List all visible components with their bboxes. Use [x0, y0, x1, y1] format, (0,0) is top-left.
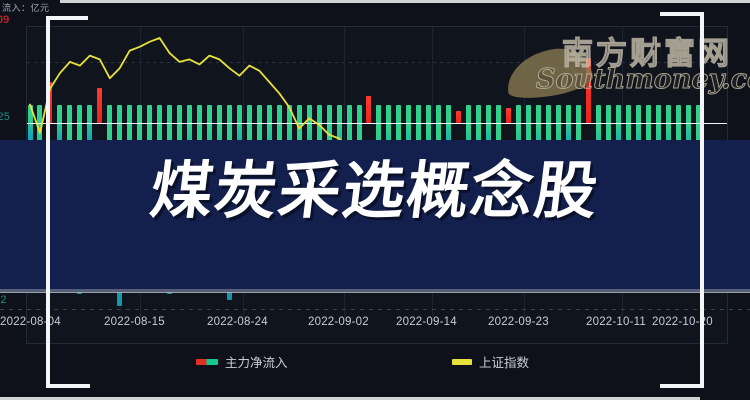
x-axis-tick-label: 2022-09-23 — [488, 316, 549, 328]
frame-corner-bottom-left — [46, 384, 90, 388]
frame-edge-top — [60, 0, 750, 3]
x-axis-dashed-line — [0, 309, 750, 310]
frame-corner-top-right — [660, 12, 704, 16]
legend-label: 上证指数 — [479, 352, 529, 371]
chart-screenshot: 流入：亿元 09 0 .25 644 62 南方财富网 Southmoney.c… — [0, 0, 750, 400]
frame-corner-top-left — [46, 16, 88, 20]
legend-swatch-icon — [196, 359, 218, 365]
x-axis-tick-label: 2022-10-11 — [586, 316, 646, 328]
title-band-edge-highlight — [0, 292, 750, 293]
legend-item-main-net-inflow[interactable]: 主力净流入 — [196, 352, 288, 371]
y-axis-label: .25 — [0, 111, 10, 123]
legend-swatch-icon — [452, 359, 472, 365]
chart-legend: 主力净流入 上证指数 — [0, 352, 750, 372]
x-axis-tick-label: 2022-08-04 — [0, 316, 61, 328]
frame-left-bar — [46, 16, 50, 388]
x-axis-tick-label: 2022-09-14 — [396, 316, 457, 328]
x-axis-tick-label: 2022-08-24 — [207, 316, 268, 328]
frame-right-bar — [700, 12, 704, 388]
x-axis-tick-label: 2022-08-15 — [104, 316, 165, 328]
legend-item-shanghai-index[interactable]: 上证指数 — [452, 352, 529, 371]
y-axis-label: 62 — [0, 294, 7, 306]
frame-corner-bottom-right — [660, 384, 704, 388]
legend-label: 主力净流入 — [225, 352, 288, 371]
x-axis-tick-label: 2022-09-02 — [308, 316, 369, 328]
page-title: 煤炭采选概念股 — [0, 160, 750, 222]
